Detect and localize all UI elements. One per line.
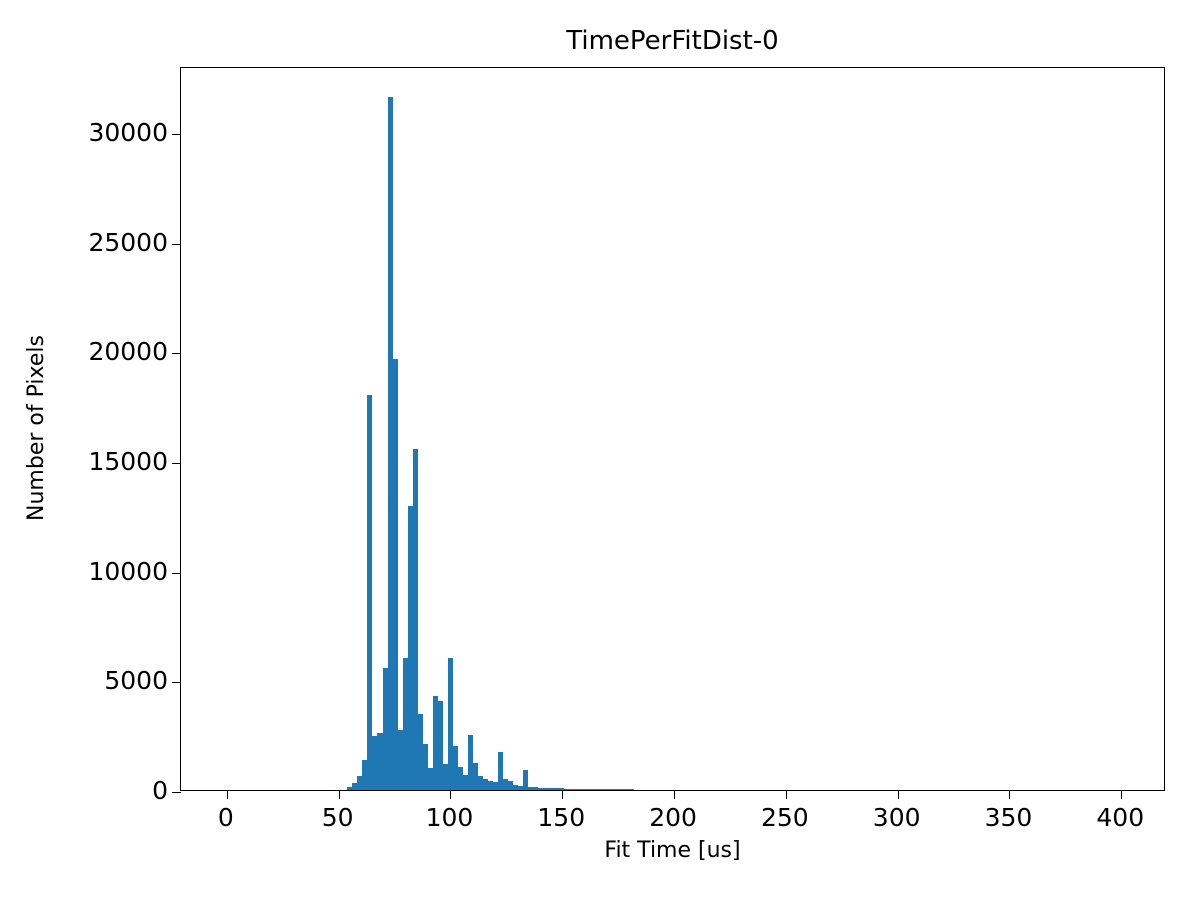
- plot-area: [181, 68, 1164, 790]
- x-axis-tick-label: 0: [218, 805, 234, 830]
- x-axis-tick-label: 300: [873, 805, 921, 830]
- x-axis-tick: [227, 790, 228, 799]
- y-axis-tick-label: 10000: [18, 559, 168, 584]
- histogram-bar: [393, 359, 398, 790]
- y-axis-tick-label: 30000: [18, 120, 168, 145]
- y-axis-tick: [172, 244, 181, 245]
- histogram-bar: [367, 395, 372, 790]
- y-axis-tick-label: 0: [18, 778, 168, 803]
- x-axis-tick-labels: 050100150200250300350400: [180, 791, 1165, 841]
- x-axis-label: Fit Time [us]: [180, 838, 1165, 864]
- x-axis-tick: [674, 790, 675, 799]
- x-axis-tick-label: 400: [1096, 805, 1144, 830]
- plot-frame: [180, 67, 1165, 791]
- x-axis-tick: [339, 790, 340, 799]
- y-axis-tick-label: 5000: [18, 668, 168, 693]
- y-axis-tick: [172, 134, 181, 135]
- x-axis-tick: [562, 790, 563, 799]
- x-axis-tick-label: 50: [322, 805, 354, 830]
- x-axis-tick-label: 150: [537, 805, 585, 830]
- x-axis-tick-label: 350: [985, 805, 1033, 830]
- y-axis-tick-label: 25000: [18, 230, 168, 255]
- x-axis-tick: [898, 790, 899, 799]
- y-axis-tick: [172, 792, 181, 793]
- y-axis-tick: [172, 573, 181, 574]
- y-axis-label: Number of Pixels: [24, 298, 50, 558]
- y-axis-tick: [172, 682, 181, 683]
- x-axis-tick: [450, 790, 451, 799]
- x-axis-tick: [1121, 790, 1122, 799]
- x-axis-tick: [1009, 790, 1010, 799]
- x-axis-tick-label: 100: [426, 805, 474, 830]
- x-axis-tick: [786, 790, 787, 799]
- y-axis-tick: [172, 353, 181, 354]
- page-title: TimePerFitDist-0: [180, 26, 1165, 56]
- x-axis-tick-label: 200: [649, 805, 697, 830]
- y-axis-tick: [172, 463, 181, 464]
- x-axis-tick-label: 250: [761, 805, 809, 830]
- figure: TimePerFitDist-0 05000100001500020000250…: [0, 0, 1200, 900]
- histogram-bar: [629, 789, 634, 790]
